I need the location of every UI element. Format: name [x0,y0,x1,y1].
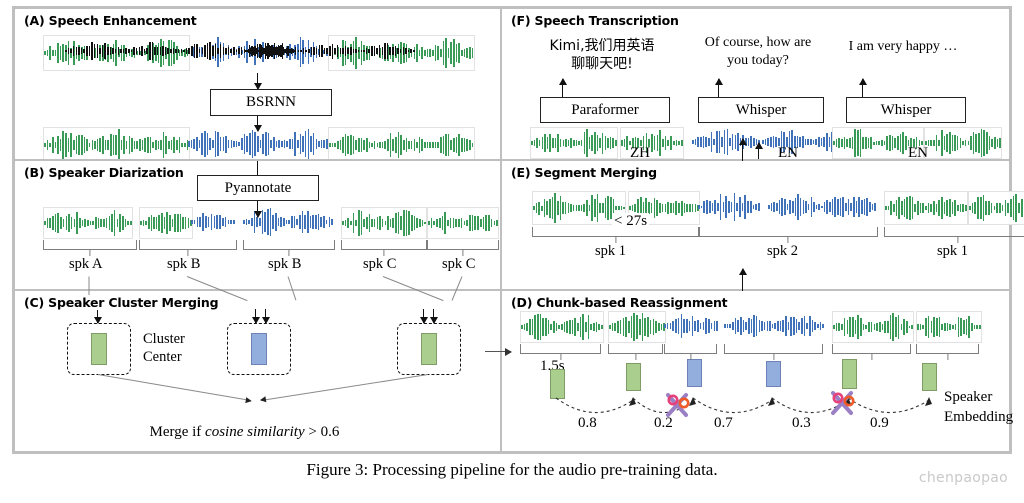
merge-line-right [261,374,428,401]
speaker-label-3: spk B [268,256,301,273]
chunk-embedding-5 [842,359,857,389]
enhanced-waveform-segment-3 [328,127,475,163]
arrow-transcript-3 [862,79,863,97]
merge-rule-metric: cosine similarity [205,424,305,440]
panel-speech-transcription: (F) Speech Transcription Kimi,我们用英语聊聊天吧!… [500,7,1011,161]
merged-waveform-6 [968,191,1024,225]
speaker-label-4: spk C [363,256,396,273]
panel-d-title: (D) Chunk-based Reassignment [510,295,728,310]
speaker-label-1: spk A [69,256,102,273]
arrow-out-of-bsrnn [257,115,258,131]
pyannotate-model-box[interactable]: Pyannotate [197,175,319,201]
diarized-segment-1 [43,207,133,239]
speaker-label-2: spk B [167,256,200,273]
transcript-line1-3: I am very happy … [844,39,962,55]
chunk-waveform-6 [916,311,982,343]
chunk-embedding-4 [766,361,781,387]
chunk-bracket-6 [916,344,979,354]
asr-model-box-3[interactable]: Whisper [846,97,966,123]
transcript-line1-2: Of course, how are [696,35,820,51]
arrow-into-cluster-2 [255,309,256,323]
arrow-d-to-e [742,269,743,291]
transcript-line2-1: 聊聊天吧! [538,53,666,73]
enhanced-waveform-segment-2 [188,127,328,161]
diarized-bracket-1 [43,240,137,250]
cluster-center-label-line1: Cluster [143,331,185,348]
panel-speaker-cluster-merging: (C) Speaker Cluster Merging Cluster Cent… [13,289,502,453]
arrow-transcript-1 [562,79,563,97]
noise-overlay-2 [245,42,415,60]
arrow-into-cluster-3 [423,309,424,323]
chunk-waveform-1 [520,311,604,343]
arrow-into-cluster-2b [265,309,266,323]
merged-waveform-4 [768,191,876,223]
panel-a-title: (A) Speech Enhancement [23,13,198,28]
transcription-waveform-2-1 [692,127,760,157]
cluster-1[interactable] [67,323,131,375]
merge-rule-text: Merge if cosine similarity > 0.6 [127,407,339,458]
bsrnn-model-box[interactable]: BSRNN [210,89,332,116]
asr-model-box-2[interactable]: Whisper [698,97,824,123]
diarized-segment-5 [427,207,499,239]
diarized-segment-2b [191,207,235,237]
enhanced-waveform-segment-1 [43,127,190,163]
diarized-bracket-2 [139,240,237,250]
panel-c-title: (C) Speaker Cluster Merging [23,295,219,310]
chunk-waveform-3 [664,311,718,341]
merge-rule-prefix: Merge if [150,424,206,440]
transcription-waveform-3-2 [924,127,1002,159]
merged-speaker-label-1: spk 1 [595,243,626,260]
merged-waveform-3 [698,191,760,223]
merged-waveform-5 [884,191,968,225]
similarity-arcs [502,386,1002,456]
cluster-3[interactable] [397,323,461,375]
chunk-bracket-2 [608,344,663,354]
diarized-bracket-5 [427,240,499,250]
arrow-out-of-pyannotate [257,201,258,217]
arrow-e-to-f [742,139,743,161]
segment-max-length-label: < 27s [612,213,649,230]
diarized-bracket-3 [243,240,335,250]
diarized-segment-2a [139,207,193,239]
speaker-label-5: spk C [442,256,475,273]
arrow-into-cluster-3b [433,309,434,323]
cluster-center-embedding-2 [251,333,267,365]
cluster-center-label-line2: Center [143,349,182,366]
arrow-e-to-f-into-whisper [758,143,759,159]
figure-caption: Figure 3: Processing pipeline for the au… [0,460,1024,480]
arrow-into-bsrnn [257,73,258,89]
diarized-segment-4 [341,207,427,239]
scissors-icon-cut-2 [829,389,859,417]
watermark: chenpaopao [919,470,1008,486]
merged-bracket-2 [698,227,878,237]
panel-chunk-based-reassignment: (D) Chunk-based Reassignment 1.5s Speake… [500,289,1011,453]
chunk-embedding-3 [687,359,702,387]
chunk-waveform-4 [724,311,824,341]
merge-rule-threshold: > 0.6 [305,424,340,440]
merged-bracket-3 [884,227,1024,237]
cluster-2[interactable] [227,323,291,375]
panel-speech-enhancement: (A) Speech Enhancement BSRNN [13,7,502,161]
transcript-line2-2: you today? [696,53,820,69]
arrow-transcript-2 [718,79,719,97]
scissors-icon-cut-1 [664,391,694,419]
merge-line-left [98,374,251,401]
merged-speaker-label-2: spk 2 [767,243,798,260]
panel-speaker-diarization: (B) Speaker Diarization Pyannotate spk A… [13,159,502,291]
chunk-waveform-5 [832,311,914,343]
panel-e-title: (E) Segment Merging [510,165,658,180]
arrow-into-cluster-1 [97,309,98,323]
transcription-waveform-1-1 [530,127,618,159]
merged-speaker-label-3: spk 1 [937,243,968,260]
arrow-c-to-d [485,351,511,352]
chunk-bracket-4 [724,344,823,354]
asr-model-box-1[interactable]: Paraformer [540,97,670,123]
panel-segment-merging: (E) Segment Merging < 27s spk 1spk 2spk … [500,159,1011,291]
transcript-line1-1: Kimi,我们用英语 [538,35,666,55]
panel-b-title: (B) Speaker Diarization [23,165,185,180]
cluster-center-embedding-3 [421,333,437,365]
chunk-bracket-1 [520,344,601,354]
cluster-center-embedding-1 [91,333,107,365]
chunk-bracket-5 [832,344,911,354]
panel-f-title: (F) Speech Transcription [510,13,680,28]
diarized-bracket-4 [341,240,427,250]
chunk-waveform-2 [608,311,666,343]
chunk-bracket-3 [664,344,717,354]
figure-pipeline-diagram: (A) Speech Enhancement BSRNN (F) Speech … [12,6,1012,454]
